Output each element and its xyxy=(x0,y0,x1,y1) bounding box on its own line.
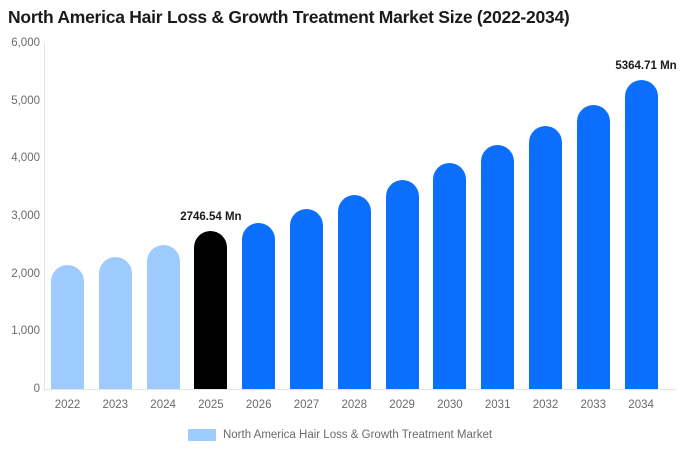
legend-swatch-icon xyxy=(188,429,216,441)
bar-chart: North America Hair Loss & Growth Treatme… xyxy=(0,0,680,450)
x-axis-tick-2026: 2026 xyxy=(234,398,284,412)
bar-2028[interactable] xyxy=(338,195,371,389)
legend-label: North America Hair Loss & Growth Treatme… xyxy=(223,429,492,441)
chart-legend: North America Hair Loss & Growth Treatme… xyxy=(0,425,680,445)
x-axis-tick-2034: 2034 xyxy=(616,398,666,412)
x-axis-tick-2030: 2030 xyxy=(425,398,475,412)
x-axis-tick-2027: 2027 xyxy=(282,398,332,412)
x-axis-tick-2031: 2031 xyxy=(473,398,523,412)
bar-2023[interactable] xyxy=(99,257,132,389)
bar-2027[interactable] xyxy=(290,209,323,389)
bar-value-label-2025: 2746.54 Mn xyxy=(180,211,241,224)
bars-layer: 2746.54 Mn5364.71 Mn xyxy=(0,0,680,450)
bar-2034[interactable] xyxy=(625,80,658,389)
bar-2032[interactable] xyxy=(529,126,562,389)
bar-2033[interactable] xyxy=(577,105,610,389)
bar-2031[interactable] xyxy=(481,145,514,389)
bar-2022[interactable] xyxy=(51,265,84,389)
bar-2026[interactable] xyxy=(242,223,275,389)
x-axis-tick-2029: 2029 xyxy=(377,398,427,412)
x-axis-tick-2028: 2028 xyxy=(329,398,379,412)
x-axis-tick-2022: 2022 xyxy=(43,398,93,412)
x-axis-tick-2033: 2033 xyxy=(568,398,618,412)
x-axis-tick-2024: 2024 xyxy=(138,398,188,412)
bar-2024[interactable] xyxy=(147,245,180,389)
x-axis-tick-2025: 2025 xyxy=(186,398,236,412)
legend-item-0[interactable]: North America Hair Loss & Growth Treatme… xyxy=(188,429,492,441)
x-axis-tick-2032: 2032 xyxy=(521,398,571,412)
x-axis-tick-2023: 2023 xyxy=(90,398,140,412)
bar-value-label-2034: 5364.71 Mn xyxy=(615,60,676,73)
bar-2029[interactable] xyxy=(386,180,419,389)
bar-2025[interactable] xyxy=(194,231,227,389)
x-axis-tick-labels: 2022202320242025202620272028202920302031… xyxy=(0,398,680,414)
bar-2030[interactable] xyxy=(433,163,466,389)
